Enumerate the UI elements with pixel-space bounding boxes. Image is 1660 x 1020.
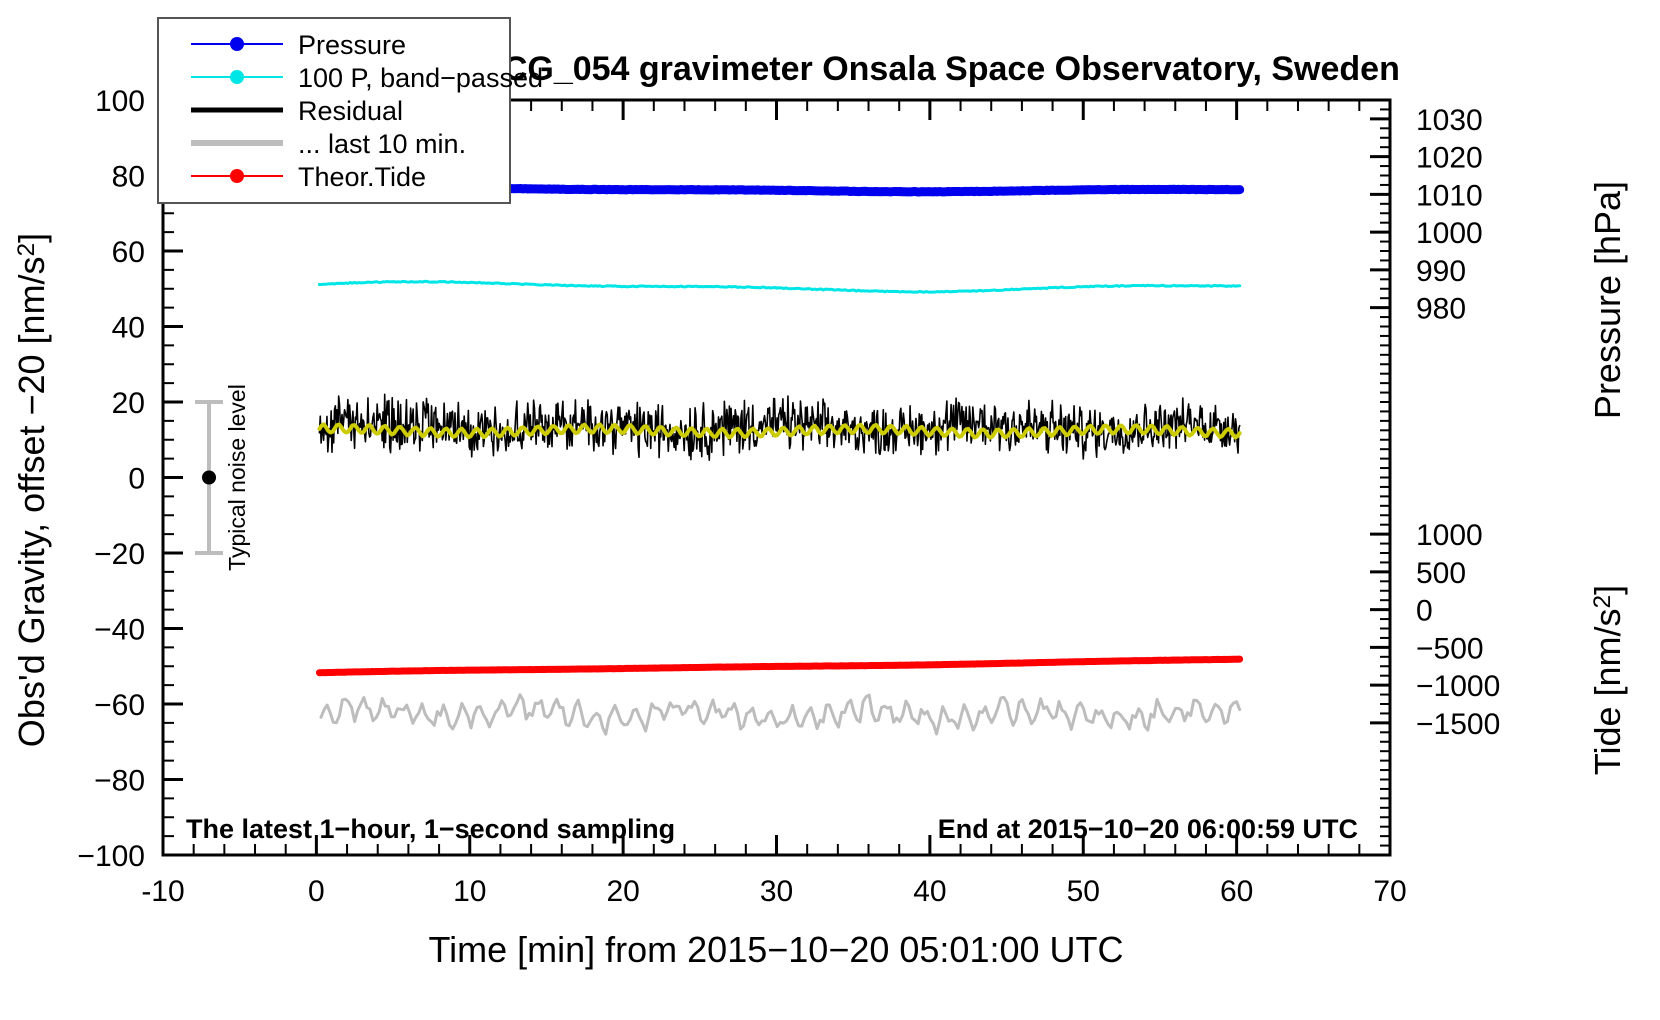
x-tick-label: 40 — [913, 875, 946, 908]
gravimeter-plot-page: -10010203040506070 −100−80−60−40−2002040… — [0, 0, 1660, 1020]
legend-item-label: 100 P, band−passed — [298, 63, 543, 93]
pressure-axis-label: 1030 — [1416, 104, 1483, 137]
pressure-axis-label: 1000 — [1416, 217, 1483, 250]
tide-axis-label: −1500 — [1416, 708, 1500, 741]
gravimeter-chart: -10010203040506070 −100−80−60−40−2002040… — [0, 0, 1660, 1020]
tide-axis-label: −1000 — [1416, 670, 1500, 703]
tide-axis-label: 500 — [1416, 557, 1466, 590]
tide-axis-label: 1000 — [1416, 519, 1483, 552]
y-axis-left-title-text: Obs'd Gravity, offset −20 [nm/s — [11, 256, 52, 747]
y-tick-label: −40 — [94, 614, 145, 647]
x-tick-label: 10 — [453, 875, 486, 908]
x-tick-label: 0 — [308, 875, 325, 908]
tide-axis-label: −500 — [1416, 632, 1484, 665]
y-axis-left-title-tail: ] — [11, 233, 52, 243]
y-tick-label: −20 — [94, 538, 145, 571]
noise-level-label: Typical noise level — [224, 384, 250, 571]
legend-swatch-marker — [230, 169, 244, 183]
pressure-axis-label: 1020 — [1416, 142, 1483, 175]
y-tick-label: −100 — [77, 840, 145, 873]
y-tick-label: −80 — [94, 765, 145, 798]
legend-item-label: Theor.Tide — [298, 162, 426, 192]
y-axis-right-tide-title: Tide [nm/s2] — [1587, 585, 1628, 775]
y-axis-left-title-sup: 2 — [13, 243, 40, 257]
legend-item-label: Pressure — [298, 30, 406, 60]
y-tick-label: 0 — [128, 463, 145, 496]
pressure-axis-label: 1010 — [1416, 179, 1483, 212]
legend-swatch-marker — [230, 37, 244, 51]
svg-text:Tide [nm/s2]: Tide [nm/s2] — [1587, 585, 1628, 775]
x-tick-label: -10 — [141, 875, 184, 908]
bottom-right-note: End at 2015−10−20 06:00:59 UTC — [938, 814, 1358, 844]
svg-text:Obs'd Gravity, offset −20 [nm/: Obs'd Gravity, offset −20 [nm/s2] — [11, 233, 52, 747]
y-tick-label: 80 — [112, 161, 145, 194]
tide-axis-label: 0 — [1416, 595, 1433, 628]
x-tick-label: 20 — [606, 875, 639, 908]
x-tick-label: 60 — [1220, 875, 1253, 908]
x-tick-label: 50 — [1067, 875, 1100, 908]
y-axis-right-pressure-title: Pressure [hPa] — [1587, 181, 1628, 419]
bottom-left-note: The latest 1−hour, 1−second sampling — [186, 814, 675, 844]
x-axis-title: Time [min] from 2015−10−20 05:01:00 UTC — [428, 929, 1123, 970]
y-axis-right-tide-title-text: Tide [nm/s — [1587, 608, 1628, 775]
legend-swatch-marker — [230, 70, 244, 84]
y-axis-right-tide-title-tail: ] — [1587, 585, 1628, 595]
noise-marker-dot — [202, 471, 216, 485]
legend-item-label: ... last 10 min. — [298, 129, 466, 159]
pressure-axis-label: 980 — [1416, 293, 1466, 326]
legend-item-label: Residual — [298, 96, 403, 126]
y-tick-label: 100 — [95, 85, 145, 118]
pressure-axis-label: 990 — [1416, 255, 1466, 288]
chart-legend: Pressure100 P, band−passedResidual... la… — [158, 18, 543, 203]
y-axis-left-title: Obs'd Gravity, offset −20 [nm/s2] — [11, 233, 52, 747]
x-tick-label: 30 — [760, 875, 793, 908]
y-tick-label: 40 — [112, 312, 145, 345]
page-title: SCG_054 gravimeter Onsala Space Observat… — [480, 50, 1400, 88]
y-tick-label: 60 — [112, 236, 145, 269]
x-tick-label: 70 — [1373, 875, 1406, 908]
y-axis-right-tide-title-sup: 2 — [1589, 595, 1616, 609]
y-tick-label: −60 — [94, 689, 145, 722]
y-tick-label: 20 — [112, 387, 145, 420]
